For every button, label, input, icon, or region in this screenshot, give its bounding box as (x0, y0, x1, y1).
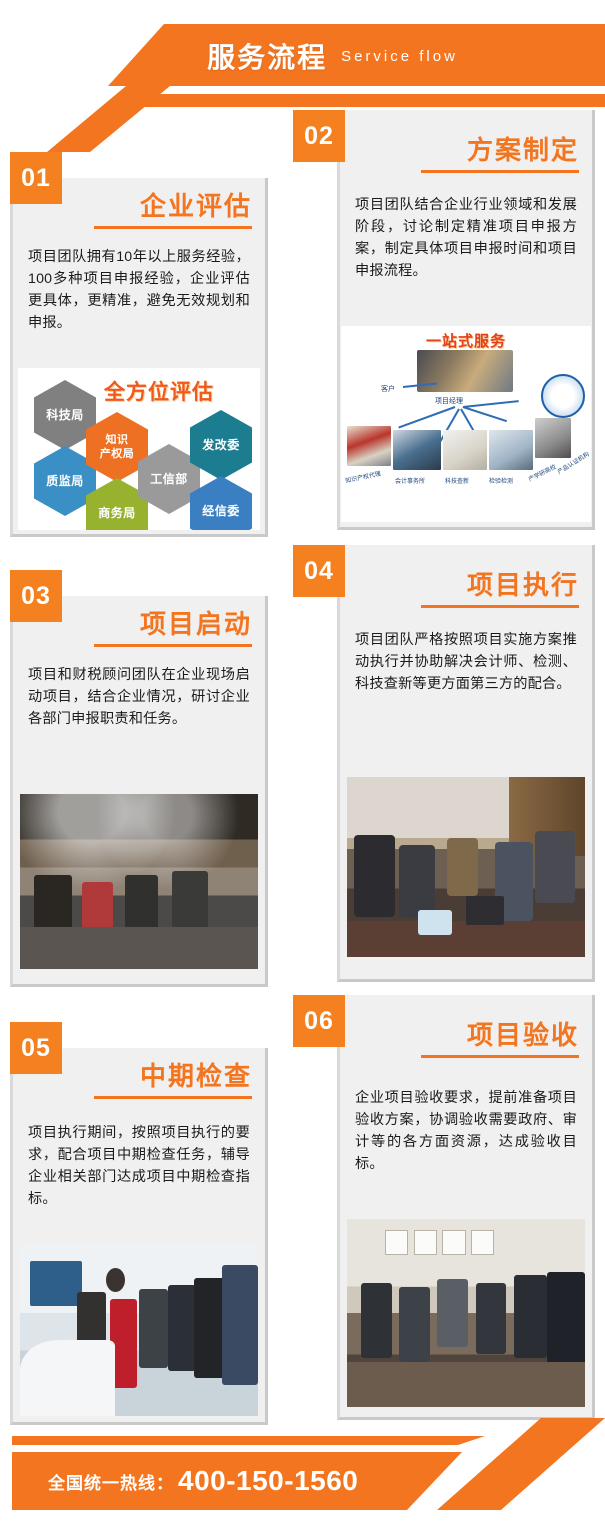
step-title-rule-05 (94, 1096, 252, 1099)
photo-exhibition-hall (20, 1244, 258, 1416)
step-title-03: 项目启动 (140, 604, 252, 641)
step-number-badge-05: 05 (10, 1022, 62, 1074)
footer-diagonal-wedge (437, 1418, 605, 1510)
one-stop-arrow-6 (398, 406, 455, 428)
one-stop-node-customer: 客户 (381, 384, 395, 394)
step-title-02: 方案制定 (467, 130, 579, 167)
one-stop-thumb-3 (443, 430, 487, 470)
step-text-02: 项目团队结合企业行业领域和发展阶段，讨论制定精准项目申报方案，制定具体项目申报时… (355, 194, 577, 282)
one-stop-label-1: 知识产权代理 (344, 468, 381, 484)
step-text-06: 企业项目验收要求，提前准备项目验收方案，协调验收需要政府、审计等的各方面资源，达… (355, 1087, 577, 1175)
step-number-badge-01: 01 (10, 152, 62, 204)
one-stop-title: 一站式服务 (426, 330, 506, 351)
one-stop-certification-seal (541, 374, 585, 418)
step-number-badge-03: 03 (10, 570, 62, 622)
service-flow-infographic: 服务流程 Service flow 01 企业评估 项目团队拥有10年以上服务经… (0, 0, 605, 1538)
one-stop-label-4: 检验检测 (489, 476, 513, 485)
step-title-rule-02 (421, 170, 579, 173)
step-title-rule-01 (94, 226, 252, 229)
photo-meeting-room (20, 794, 258, 969)
one-stop-service-diagram: 一站式服务 客户 项目经理 知识产权代理 会计事务所 科技查新 (341, 326, 591, 522)
one-stop-label-3: 科技查新 (445, 476, 469, 485)
step-card-04[interactable]: 04 项目执行 项目团队严格按照项目实施方案推动执行并协助解决会计师、检测、科技… (293, 545, 595, 987)
step-text-04: 项目团队严格按照项目实施方案推动执行并协助解决会计师、检测、科技查新等更方面第三… (355, 629, 577, 695)
step-text-01: 项目团队拥有10年以上服务经验，100多种项目申报经验，企业评估更具体，更精准，… (28, 246, 250, 334)
page-footer: 全国统一热线： 400-150-1560 (0, 1418, 605, 1538)
one-stop-arrow-2 (463, 406, 507, 422)
step-title-05: 中期检查 (140, 1056, 252, 1093)
hotline-label: 全国统一热线： (48, 1469, 174, 1494)
step-number-badge-06: 06 (293, 995, 345, 1047)
step-title-rule-03 (94, 644, 252, 647)
step-title-01: 企业评估 (140, 186, 252, 223)
step-text-05: 项目执行期间，按照项目执行的要求，配合项目中期检查任务，辅导企业相关部门达成项目… (28, 1122, 250, 1210)
one-stop-label-2: 会计事务所 (395, 476, 425, 485)
one-stop-team-photo (417, 350, 513, 392)
step-title-06: 项目验收 (467, 1015, 579, 1052)
hex-diagram: 全方位评估 科技局 质监局 知识 产权局 商务局 工信部 发改委 经信委 (18, 368, 260, 530)
step-card-05[interactable]: 05 中期检查 项目执行期间，按照项目执行的要求，配合项目中期检查任务，辅导企业… (10, 1022, 268, 1425)
one-stop-thumb-2 (393, 430, 441, 470)
one-stop-thumb-4 (489, 430, 533, 470)
step-card-03[interactable]: 03 项目启动 项目和财税顾问团队在企业现场启动项目，结合企业情况，研讨企业各部… (10, 570, 268, 987)
hex-diagram-title: 全方位评估 (104, 376, 214, 406)
one-stop-thumb-1 (347, 426, 391, 466)
one-stop-arrow-3 (463, 400, 519, 408)
header-banner-stripe (0, 94, 605, 107)
step-title-rule-06 (421, 1055, 579, 1058)
hotline-number[interactable]: 400-150-1560 (178, 1465, 358, 1497)
step-text-03: 项目和财税顾问团队在企业现场启动项目，结合企业情况，研讨企业各部门申报职责和任务… (28, 664, 250, 730)
step-number-badge-02: 02 (293, 110, 345, 162)
page-title: 服务流程 Service flow (0, 28, 605, 84)
step-card-06[interactable]: 06 项目验收 企业项目验收要求，提前准备项目验收方案，协调验收需要政府、审计等… (293, 995, 595, 1425)
one-stop-node-manager: 项目经理 (435, 396, 463, 406)
step-card-02[interactable]: 02 方案制定 项目团队结合企业行业领域和发展阶段，讨论制定精准项目申报方案，制… (293, 110, 595, 537)
step-number-badge-04: 04 (293, 545, 345, 597)
page-title-cn: 服务流程 (207, 36, 327, 76)
photo-conference-table (347, 777, 585, 957)
step-title-rule-04 (421, 605, 579, 608)
photo-boardroom (347, 1219, 585, 1407)
page-title-en: Service flow (341, 48, 458, 65)
one-stop-thumb-5 (535, 418, 571, 458)
hotline: 全国统一热线： 400-150-1560 (48, 1452, 358, 1510)
step-card-01[interactable]: 01 企业评估 项目团队拥有10年以上服务经验，100多种项目申报经验，企业评估… (10, 152, 268, 537)
step-title-04: 项目执行 (467, 565, 579, 602)
